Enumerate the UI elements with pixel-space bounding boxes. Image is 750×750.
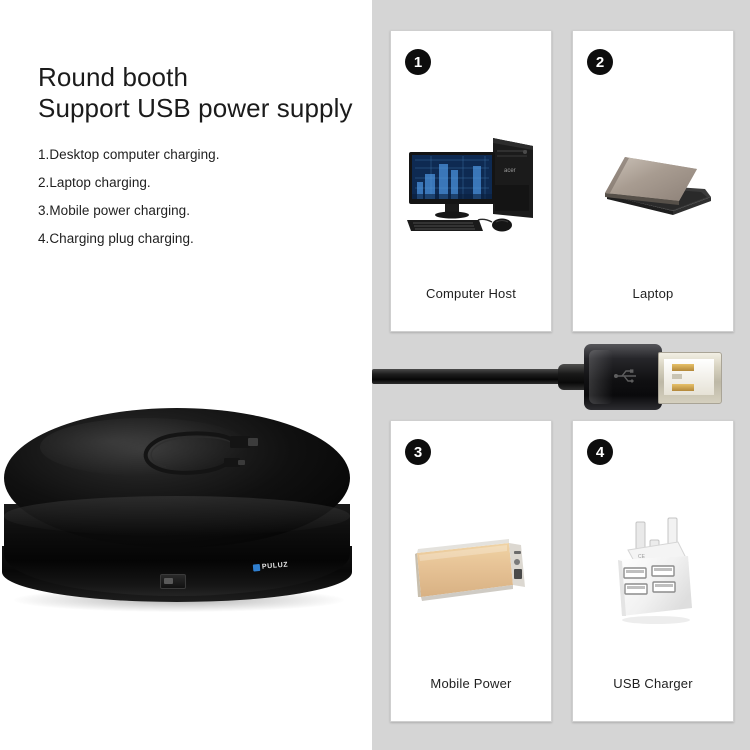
card-caption-2: Laptop <box>573 286 733 301</box>
usb-pin-slot <box>672 374 682 379</box>
usb-cable-lead <box>372 369 568 384</box>
usage-card-computer-host[interactable]: 1 acer <box>390 30 552 332</box>
turntable-rim <box>4 496 350 536</box>
brand-logo-mark <box>253 564 261 572</box>
power-bank-icon <box>391 473 551 671</box>
usage-card-usb-charger[interactable]: 4 CE FC <box>572 420 734 722</box>
usb-pin-bottom <box>672 384 694 391</box>
usb-pin-top <box>672 364 694 371</box>
feature-item-2: 2.Laptop charging. <box>38 174 368 191</box>
usb-wall-charger-icon: CE FC <box>573 473 733 671</box>
card-caption-1: Computer Host <box>391 286 551 301</box>
usage-card-laptop[interactable]: 2 L <box>572 30 734 332</box>
card-badge-1: 1 <box>405 49 431 75</box>
card-badge-4: 4 <box>587 439 613 465</box>
desktop-computer-icon: acer <box>391 83 551 281</box>
copy-block: Round booth Support USB power supply 1.D… <box>38 62 368 258</box>
feature-item-1: 1.Desktop computer charging. <box>38 146 368 163</box>
usage-card-mobile-power[interactable]: 3 <box>390 420 552 722</box>
feature-list: 1.Desktop computer charging. 2.Laptop ch… <box>38 146 368 247</box>
infographic-canvas: Round booth Support USB power supply 1.D… <box>0 0 750 750</box>
coiled-usb-cable <box>136 428 262 484</box>
usb-cable-graphic <box>372 336 750 418</box>
card-caption-4: USB Charger <box>573 676 733 691</box>
feature-item-3: 3.Mobile power charging. <box>38 202 368 219</box>
feature-item-4: 4.Charging plug charging. <box>38 230 368 247</box>
page-title: Round booth Support USB power supply <box>38 62 368 124</box>
usb-trident-logo <box>614 368 640 384</box>
card-caption-3: Mobile Power <box>391 676 551 691</box>
card-badge-2: 2 <box>587 49 613 75</box>
card-badge-3: 3 <box>405 439 431 465</box>
turntable-power-switch[interactable] <box>160 574 186 589</box>
svg-text:acer: acer <box>504 168 516 174</box>
laptop-icon <box>573 83 733 281</box>
